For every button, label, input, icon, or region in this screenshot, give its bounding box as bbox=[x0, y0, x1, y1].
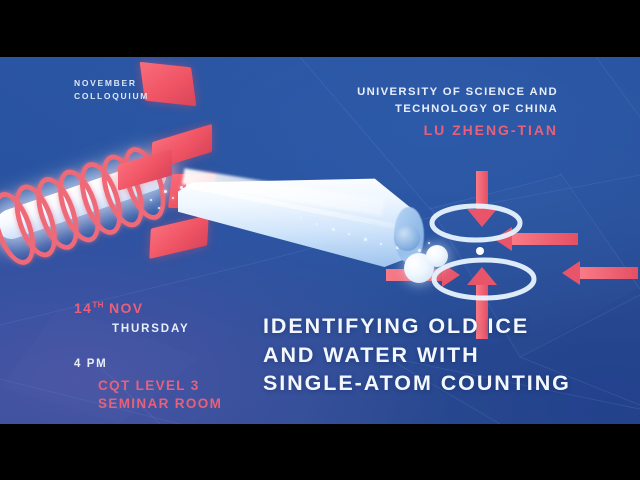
particle-dot bbox=[158, 207, 160, 209]
atom-sphere-small bbox=[426, 245, 448, 267]
particle-dot bbox=[364, 238, 367, 241]
particle-dot bbox=[300, 217, 302, 219]
title-line-1: IDENTIFYING OLD ICE bbox=[263, 312, 571, 341]
particle-dot bbox=[164, 190, 167, 193]
red-plate bbox=[152, 124, 212, 170]
trap-arrow-right-lower bbox=[386, 263, 460, 287]
affiliation-block: UNIVERSITY OF SCIENCE AND TECHNOLOGY OF … bbox=[357, 84, 558, 138]
coil-core-beam bbox=[0, 157, 170, 243]
affiliation-line-2: TECHNOLOGY OF CHINA bbox=[357, 101, 558, 118]
letterbox-top bbox=[0, 0, 640, 57]
venue-line-2: SEMINAR ROOM bbox=[98, 395, 222, 413]
coil-ring bbox=[93, 149, 152, 233]
particle-dot bbox=[436, 253, 438, 255]
particle-dot bbox=[196, 193, 199, 196]
event-date: 14TH NOV bbox=[74, 300, 222, 316]
event-details-block: 14TH NOV THURSDAY 4 PM CQT LEVEL 3 SEMIN… bbox=[74, 300, 222, 413]
red-plate bbox=[118, 149, 172, 190]
tube-edge bbox=[186, 183, 413, 232]
poster-slide: NOVEMBER COLLOQUIUM UNIVERSITY OF SCIENC… bbox=[0, 0, 640, 480]
particle-dot bbox=[418, 249, 421, 252]
kicker-line-2: COLLOQUIUM bbox=[74, 90, 149, 103]
particle-dot bbox=[204, 207, 206, 209]
particle-dot bbox=[332, 228, 335, 231]
kicker-block: NOVEMBER COLLOQUIUM bbox=[74, 77, 149, 103]
particle-dot bbox=[180, 186, 183, 189]
tube-highlight bbox=[182, 168, 384, 215]
trap-arrow-left-upper bbox=[494, 227, 578, 251]
kicker-line-1: NOVEMBER bbox=[74, 77, 149, 90]
orbital-ring-lower bbox=[434, 260, 534, 298]
laser-tube bbox=[178, 175, 418, 267]
red-plate bbox=[168, 174, 216, 208]
trap-arrow-down bbox=[467, 171, 497, 227]
venue-line-1: CQT LEVEL 3 bbox=[98, 377, 222, 395]
date-number: 14 bbox=[74, 300, 92, 316]
particle-dot bbox=[150, 199, 152, 201]
coil-ring bbox=[72, 157, 131, 241]
particle-dot bbox=[380, 243, 382, 245]
affiliation-line-1: UNIVERSITY OF SCIENCE AND bbox=[357, 84, 558, 101]
particle-dot bbox=[188, 202, 190, 204]
title-line-2: AND WATER WITH bbox=[263, 341, 571, 370]
red-plate bbox=[149, 215, 208, 259]
title-line-3: SINGLE-ATOM COUNTING bbox=[263, 369, 571, 398]
particle-dot bbox=[348, 233, 350, 235]
atom-sphere-large bbox=[404, 253, 434, 283]
particle-dot bbox=[410, 239, 412, 241]
letterbox-bottom bbox=[0, 424, 640, 480]
date-ordinal: TH bbox=[92, 300, 103, 309]
event-time: 4 PM bbox=[74, 358, 222, 370]
date-month: NOV bbox=[109, 300, 144, 316]
coil-ring bbox=[50, 164, 109, 248]
particle-dot bbox=[396, 246, 399, 249]
orbital-ring-upper bbox=[432, 206, 520, 240]
trap-arrow-left-outer bbox=[562, 261, 638, 285]
event-weekday: THURSDAY bbox=[112, 323, 222, 335]
atom-disc bbox=[394, 225, 420, 251]
tube-end-cap bbox=[394, 207, 424, 263]
solenoid-coil bbox=[0, 112, 204, 284]
particle-dot bbox=[172, 197, 174, 199]
tube-body bbox=[178, 175, 418, 267]
trap-center-point bbox=[476, 247, 484, 255]
coil-ring bbox=[28, 172, 87, 256]
slide-canvas: NOVEMBER COLLOQUIUM UNIVERSITY OF SCIENC… bbox=[0, 57, 640, 424]
speaker-name: LU ZHENG-TIAN bbox=[357, 122, 558, 138]
particle-dot bbox=[406, 229, 408, 231]
particle-dot bbox=[316, 223, 318, 225]
coil-ring bbox=[6, 179, 65, 263]
coil-ring bbox=[0, 187, 43, 271]
event-venue: CQT LEVEL 3 SEMINAR ROOM bbox=[98, 377, 222, 413]
particle-dot bbox=[428, 242, 430, 244]
talk-title: IDENTIFYING OLD ICE AND WATER WITH SINGL… bbox=[263, 312, 571, 398]
coil-ring bbox=[115, 142, 174, 226]
